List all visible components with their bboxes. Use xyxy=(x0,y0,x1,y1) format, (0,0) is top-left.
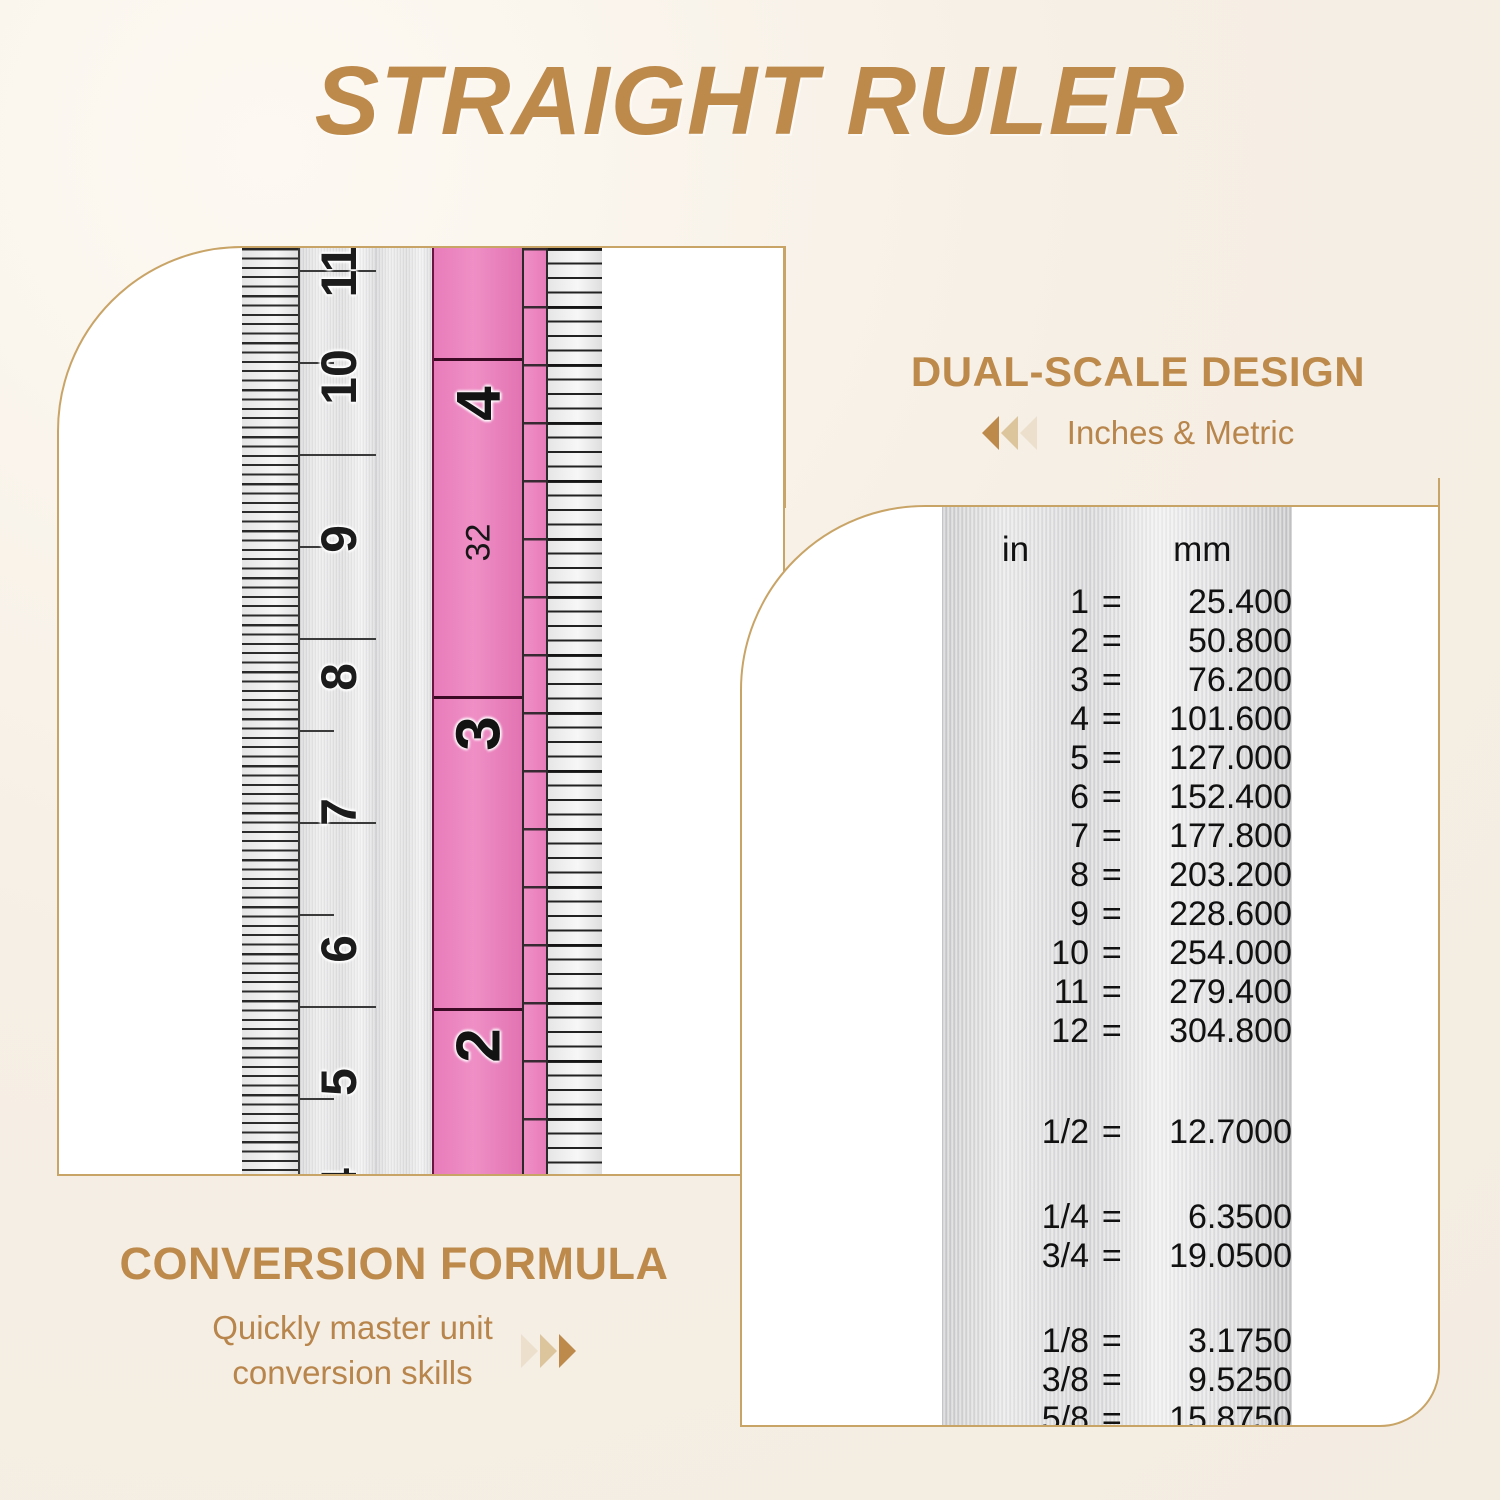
dual-scale-subtitle: Inches & Metric xyxy=(1067,414,1294,452)
row-in: 1/4 xyxy=(942,1198,1089,1237)
row-in: 5/8 xyxy=(942,1400,1089,1428)
conversion-subtitle: Quickly master unit conversion skills xyxy=(212,1306,493,1395)
table-row: 10 = 254.000 xyxy=(942,934,1292,973)
row-equals: = xyxy=(1089,934,1135,973)
row-equals: = xyxy=(1089,622,1135,661)
inch-label: 3 xyxy=(444,689,515,779)
table-row: 9 = 228.600 xyxy=(942,895,1292,934)
imperial-tick-column xyxy=(548,248,602,1176)
imperial-subdivision-column xyxy=(522,248,548,1176)
table-row: 2 = 50.800 xyxy=(942,622,1292,661)
row-mm: 152.400 xyxy=(1135,778,1293,817)
cm-label: 11 xyxy=(310,246,368,310)
table-header-row: in mm xyxy=(942,529,1292,583)
conversion-plate: in mm 1 = 25.400 2 = 50.800 xyxy=(942,507,1292,1427)
row-mm: 25.400 xyxy=(1135,583,1293,622)
table-row: 5 = 127.000 xyxy=(942,739,1292,778)
row-equals: = xyxy=(1089,778,1135,817)
row-equals: = xyxy=(1089,1198,1135,1237)
table-spacer xyxy=(942,1051,1292,1113)
table-row: 8 = 203.200 xyxy=(942,856,1292,895)
row-in: 1 xyxy=(942,583,1089,622)
metric-number-column: 11 10 9 8 7 6 5 4 xyxy=(298,248,376,1176)
row-mm: 15.8750 xyxy=(1135,1400,1293,1428)
row-mm: 304.800 xyxy=(1135,1012,1293,1051)
chevron-left-icon xyxy=(982,416,999,450)
header-mm: mm xyxy=(1135,529,1293,583)
table-row: 3/4 = 19.0500 xyxy=(942,1237,1292,1276)
metric-tick-column xyxy=(242,248,298,1176)
row-equals: = xyxy=(1089,700,1135,739)
cm-label: 6 xyxy=(310,910,368,988)
row-mm: 9.5250 xyxy=(1135,1361,1293,1400)
table-row: 3 = 76.200 xyxy=(942,661,1292,700)
row-mm: 101.600 xyxy=(1135,700,1293,739)
table-row: 7 = 177.800 xyxy=(942,817,1292,856)
row-in: 11 xyxy=(942,973,1089,1012)
row-in: 9 xyxy=(942,895,1089,934)
chevron-left-icon xyxy=(1020,416,1037,450)
row-equals: = xyxy=(1089,1361,1135,1400)
conversion-subtitle-line2: conversion skills xyxy=(212,1351,493,1396)
guide-line-table-right xyxy=(1438,478,1440,508)
table-spacer xyxy=(942,1276,1292,1322)
cm-label: 4 xyxy=(310,1143,368,1176)
row-mm: 76.200 xyxy=(1135,661,1293,700)
row-in: 2 xyxy=(942,622,1089,661)
row-equals: = xyxy=(1089,973,1135,1012)
row-equals: = xyxy=(1089,1322,1135,1361)
row-equals: = xyxy=(1089,583,1135,622)
row-in: 3 xyxy=(942,661,1089,700)
row-mm: 177.800 xyxy=(1135,817,1293,856)
table-row: 1 = 25.400 xyxy=(942,583,1292,622)
row-mm: 3.1750 xyxy=(1135,1322,1293,1361)
table-row: 1/2 = 12.7000 xyxy=(942,1113,1292,1152)
row-in: 7 xyxy=(942,817,1089,856)
inch-label: 4 xyxy=(444,359,515,449)
row-equals: = xyxy=(1089,895,1135,934)
row-equals: = xyxy=(1089,739,1135,778)
page-title: STRAIGHT RULER xyxy=(0,52,1500,149)
cm-label: 9 xyxy=(310,500,368,578)
row-in: 8 xyxy=(942,856,1089,895)
row-in: 4 xyxy=(942,700,1089,739)
row-mm: 19.0500 xyxy=(1135,1237,1293,1276)
infographic-canvas: STRAIGHT RULER 11 10 9 8 7 xyxy=(0,0,1500,1500)
row-in: 1/8 xyxy=(942,1322,1089,1361)
row-mm: 127.000 xyxy=(1135,739,1293,778)
chevron-left-icon xyxy=(1001,416,1018,450)
row-in: 5 xyxy=(942,739,1089,778)
row-mm: 279.400 xyxy=(1135,973,1293,1012)
row-mm: 254.000 xyxy=(1135,934,1293,973)
table-row: 12 = 304.800 xyxy=(942,1012,1292,1051)
ruler-photo-panel: 11 10 9 8 7 6 5 4 xyxy=(57,246,785,1176)
chevron-right-icon xyxy=(540,1334,557,1368)
row-equals: = xyxy=(1089,817,1135,856)
chevron-left-group xyxy=(982,416,1037,450)
row-in: 3/4 xyxy=(942,1237,1089,1276)
ruler-image: 11 10 9 8 7 6 5 4 xyxy=(242,248,602,1176)
row-mm: 12.7000 xyxy=(1135,1113,1293,1152)
row-in: 12 xyxy=(942,1012,1089,1051)
row-mm: 228.600 xyxy=(1135,895,1293,934)
table-row: 6 = 152.400 xyxy=(942,778,1292,817)
conversion-subtitle-line1: Quickly master unit xyxy=(212,1306,493,1351)
conversion-feature: CONVERSION FORMULA Quickly master unit c… xyxy=(44,1238,744,1395)
row-in: 3/8 xyxy=(942,1361,1089,1400)
row-equals: = xyxy=(1089,1400,1135,1428)
cm-label: 8 xyxy=(310,638,368,716)
row-mm: 50.800 xyxy=(1135,622,1293,661)
fraction-marker: 32 xyxy=(460,498,499,588)
conversion-table: in mm 1 = 25.400 2 = 50.800 xyxy=(942,529,1292,1427)
table-row: 5/8 = 15.8750 xyxy=(942,1400,1292,1428)
row-equals: = xyxy=(1089,856,1135,895)
chevron-right-group xyxy=(521,1334,576,1368)
table-row: 4 = 101.600 xyxy=(942,700,1292,739)
row-mm: 6.3500 xyxy=(1135,1198,1293,1237)
chevron-right-icon xyxy=(521,1334,538,1368)
header-spacer xyxy=(1089,529,1135,583)
dual-scale-feature: DUAL-SCALE DESIGN Inches & Metric xyxy=(818,348,1458,452)
row-equals: = xyxy=(1089,1237,1135,1276)
inch-label: 2 xyxy=(444,1001,515,1091)
row-in: 10 xyxy=(942,934,1089,973)
row-in: 1/2 xyxy=(942,1113,1089,1152)
table-row: 11 = 279.400 xyxy=(942,973,1292,1012)
table-row: 1/4 = 6.3500 xyxy=(942,1198,1292,1237)
row-equals: = xyxy=(1089,661,1135,700)
chevron-right-icon xyxy=(559,1334,576,1368)
cm-label: 5 xyxy=(310,1043,368,1121)
table-spacer xyxy=(942,1152,1292,1198)
table-row: 3/8 = 9.5250 xyxy=(942,1361,1292,1400)
imperial-number-column: 4 32 3 2 xyxy=(432,248,522,1176)
row-equals: = xyxy=(1089,1113,1135,1152)
header-in: in xyxy=(942,529,1089,583)
conversion-table-panel: in mm 1 = 25.400 2 = 50.800 xyxy=(740,505,1440,1427)
row-equals: = xyxy=(1089,1012,1135,1051)
cm-label: 10 xyxy=(310,338,368,416)
row-in: 6 xyxy=(942,778,1089,817)
table-row: 1/8 = 3.1750 xyxy=(942,1322,1292,1361)
row-mm: 203.200 xyxy=(1135,856,1293,895)
ruler-blank-band xyxy=(376,248,432,1176)
conversion-heading: CONVERSION FORMULA xyxy=(44,1238,744,1290)
dual-scale-heading: DUAL-SCALE DESIGN xyxy=(818,348,1458,396)
cm-label: 7 xyxy=(310,773,368,851)
